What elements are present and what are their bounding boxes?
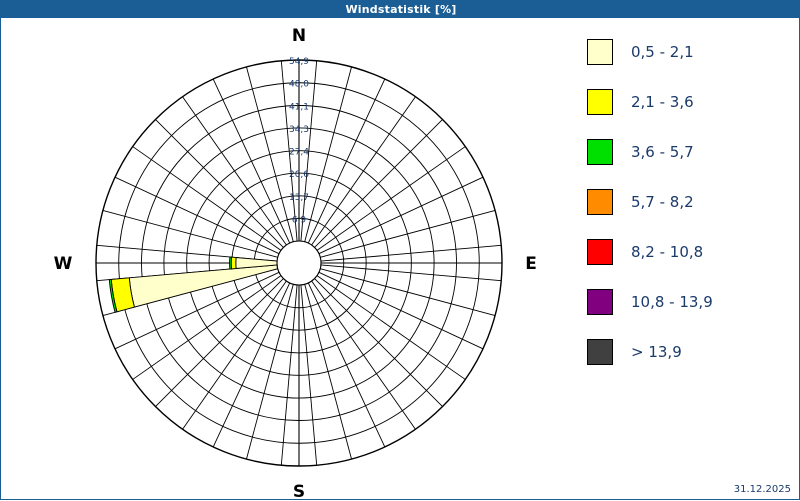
legend-swatch [587, 239, 613, 265]
legend-swatch [587, 39, 613, 65]
calm-circle [277, 241, 321, 285]
compass-label-south: S [293, 482, 305, 501]
radial-tick-label: 48,0 [289, 80, 309, 90]
radial-tick-label: 27,4 [289, 148, 309, 158]
radial-tick-label: 54,9 [289, 57, 309, 67]
legend-swatch [587, 189, 613, 215]
date-stamp: 31.12.2025 [734, 484, 791, 495]
legend-label: 3,6 - 5,7 [631, 143, 694, 161]
radial-tick-label: 34,3 [289, 125, 309, 135]
radial-tick-label: 6,9 [292, 215, 307, 225]
legend-swatch [587, 339, 613, 365]
legend-label: 10,8 - 13,9 [631, 293, 713, 311]
legend-swatch [587, 139, 613, 165]
legend-swatch [587, 89, 613, 115]
petal-segment [230, 257, 232, 269]
legend-label: 2,1 - 3,6 [631, 93, 694, 111]
legend-item: 8,2 - 10,8 [587, 227, 787, 277]
compass-label-west: W [54, 254, 73, 274]
radial-tick-label: 13,7 [289, 193, 309, 203]
petal-segment [129, 265, 277, 307]
window-title: Windstatistik [%] [345, 3, 456, 16]
radial-tick-label: 20,6 [289, 170, 309, 180]
legend: 0,5 - 2,12,1 - 3,63,6 - 5,75,7 - 8,28,2 … [587, 27, 787, 377]
petal-segment [231, 257, 236, 269]
legend-label: 8,2 - 10,8 [631, 243, 703, 261]
calm-circle-shape [277, 241, 321, 285]
legend-item: 0,5 - 2,1 [587, 27, 787, 77]
radial-tick-label: 41,1 [289, 102, 309, 112]
legend-swatch [587, 289, 613, 315]
windrose-window: Windstatistik [%] 6,913,720,627,434,341,… [0, 0, 800, 500]
legend-item: 2,1 - 3,6 [587, 77, 787, 127]
legend-item: 10,8 - 13,9 [587, 277, 787, 327]
legend-item: 3,6 - 5,7 [587, 127, 787, 177]
legend-label: 5,7 - 8,2 [631, 193, 694, 211]
legend-item: 5,7 - 8,2 [587, 177, 787, 227]
compass-label-north: N [292, 26, 306, 46]
legend-item: > 13,9 [587, 327, 787, 377]
compass-label-east: E [525, 254, 537, 274]
window-title-bar: Windstatistik [%] [1, 1, 800, 18]
legend-label: > 13,9 [631, 343, 682, 361]
legend-label: 0,5 - 2,1 [631, 43, 694, 61]
